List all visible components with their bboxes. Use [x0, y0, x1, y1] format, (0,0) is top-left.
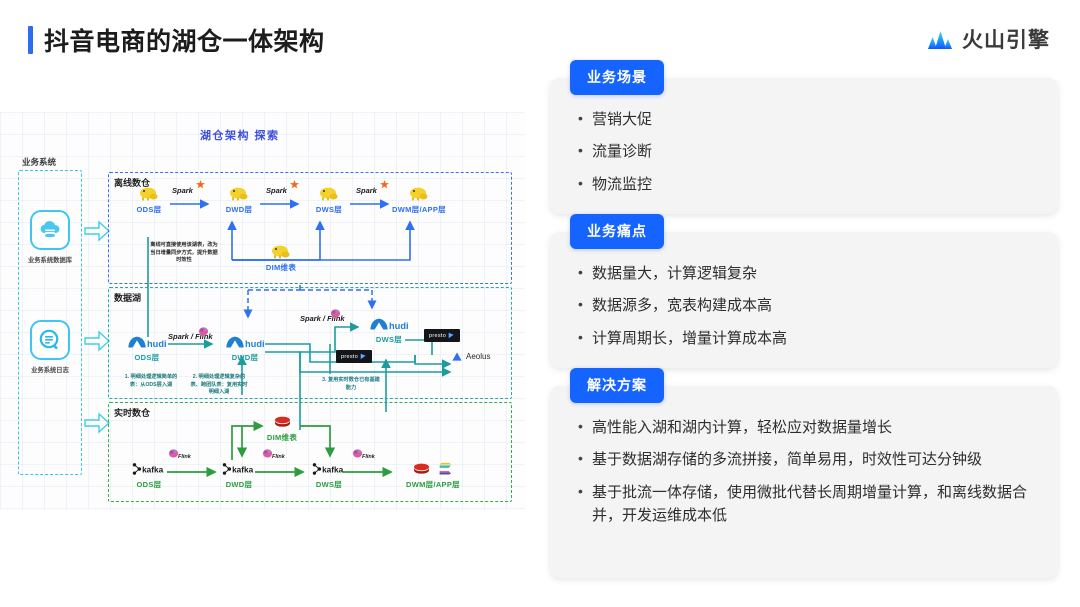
bullet-text: 基于数据湖存储的多流拼接，简单易用，时效性可达分钟级 [592, 448, 982, 471]
brand-logo: 火山引擎 [927, 24, 1050, 54]
elasticsearch-icon [438, 462, 453, 477]
realtime-stage-dwm-app: DWM层/APP层 [388, 457, 478, 490]
engine-label-spark: Spark [356, 186, 377, 195]
list-item: • 基于数据湖存储的多流拼接，简单易用，时效性可达分钟级 [576, 448, 1032, 471]
hudi-icon: hudi [352, 312, 426, 332]
bullet-text: 营销大促 [592, 108, 652, 131]
bullet-text: 物流监控 [592, 173, 652, 196]
realtime-stage-dim: DIM维表 [245, 410, 319, 443]
lake-note-3: 3. 复用实时数仓已有基建能力 [322, 377, 380, 392]
bullet-dot: • [576, 108, 592, 129]
aeolus-node: Aeolus [452, 352, 490, 361]
spark-star-icon [196, 180, 205, 189]
lake-stage-dwd: hudi DWD层 [208, 330, 282, 363]
slide-root: 抖音电商的湖仓一体架构 火山引擎 湖仓架构 探索 业务系统 [0, 0, 1080, 607]
bullet-text: 基于批流一体存储，使用微批代替长周期增量计算，和离线数据合并，开发运维成本低 [592, 481, 1032, 528]
offline-stage-dim: DIM维表 [244, 240, 318, 273]
spark-star-icon [290, 180, 299, 189]
list-item: • 数据源多，宽表构建成本高 [576, 294, 1032, 317]
stage-label: DWD层 [208, 352, 282, 363]
stage-label: DWD层 [202, 204, 276, 215]
stage-label: DIM维表 [244, 262, 318, 273]
info-card-solution: 解决方案 • 高性能入湖和湖内计算，轻松应对数据量增长 • 基于数据湖存储的多流… [550, 386, 1058, 578]
stage-label: DWS层 [352, 334, 426, 345]
svg-text:kafka: kafka [232, 464, 254, 474]
lake-note-1: 1. 明细处理逻辑简单的表：从ODS层入湖 [122, 374, 180, 389]
card-badge: 业务场景 [570, 60, 664, 95]
flow-arrow-icon [84, 220, 110, 242]
flink-squirrel-icon [352, 448, 363, 458]
hadoop-icon [202, 182, 276, 202]
kafka-icon: kafka [202, 457, 276, 477]
offline-note: 离线可直接使用该湖表，改为当日增量同步方式，提升数据时效性 [148, 242, 220, 265]
hadoop-icon [292, 182, 366, 202]
bullet-dot: • [576, 294, 592, 315]
presto-badge: presto [336, 350, 372, 363]
svg-text:hudi: hudi [147, 339, 167, 349]
lake-stage-dws: hudi DWS层 [352, 312, 426, 345]
svg-text:kafka: kafka [142, 464, 164, 474]
bullet-text: 计算周期长，增量计算成本高 [592, 327, 787, 350]
section-label-lake: 数据湖 [114, 291, 141, 304]
stage-label: ODS层 [110, 352, 184, 363]
flink-squirrel-icon [262, 448, 273, 458]
list-item: • 数据量大，计算逻辑复杂 [576, 262, 1032, 285]
card-badge: 业务痛点 [570, 214, 664, 249]
hadoop-icon [244, 240, 318, 260]
list-item: • 物流监控 [576, 173, 1032, 196]
diagram-title: 湖仓架构 探索 [200, 127, 280, 143]
hudi-icon: hudi [208, 330, 282, 350]
redis-icon [413, 462, 430, 477]
volcano-mountain-icon [927, 28, 953, 50]
realtime-stage-ods: kafka ODS层 [112, 457, 186, 490]
realtime-stage-dws: kafka DWS层 [292, 457, 366, 490]
engine-label-flink: Flink [178, 454, 191, 460]
bullet-text: 数据源多，宽表构建成本高 [592, 294, 772, 317]
stage-label: ODS层 [112, 204, 186, 215]
source-node-label: 业务系统数据库 [18, 255, 82, 264]
aeolus-icon [452, 352, 462, 361]
flow-arrow-icon [84, 330, 110, 352]
source-node-log: 业务系统日志 [18, 320, 82, 374]
engine-label-spark: Spark [266, 186, 287, 195]
spark-star-icon [380, 180, 389, 189]
presto-label: presto [429, 333, 446, 339]
title-accent-bar [28, 26, 33, 54]
stage-label: DWS层 [292, 479, 366, 490]
bullet-text: 高性能入湖和湖内计算，轻松应对数据量增长 [592, 416, 892, 439]
source-node-label: 业务系统日志 [18, 365, 82, 374]
brand-name: 火山引擎 [962, 24, 1050, 54]
card-body: • 数据量大，计算逻辑复杂 • 数据源多，宽表构建成本高 • 计算周期长，增量计… [550, 232, 1058, 366]
bullet-dot: • [576, 173, 592, 194]
kafka-icon: kafka [112, 457, 186, 477]
bullet-dot: • [576, 416, 592, 437]
engine-label-flink: Flink [362, 454, 375, 460]
bullet-dot: • [576, 140, 592, 161]
slide-header: 抖音电商的湖仓一体架构 火山引擎 [0, 0, 1080, 72]
stage-label: DWM层/APP层 [382, 204, 456, 215]
bullet-dot: • [576, 262, 592, 283]
presto-badge: presto [424, 329, 460, 342]
presto-glyph-icon [448, 332, 455, 339]
list-item: • 计算周期长，增量计算成本高 [576, 327, 1032, 350]
bullet-text: 数据量大，计算逻辑复杂 [592, 262, 757, 285]
title-text: 抖音电商的湖仓一体架构 [44, 22, 325, 58]
list-item: • 流量诊断 [576, 140, 1032, 163]
info-card-painpoints: 业务痛点 • 数据量大，计算逻辑复杂 • 数据源多，宽表构建成本高 • 计算周期… [550, 232, 1058, 368]
engine-label-flink: Flink [272, 454, 285, 460]
svg-text:hudi: hudi [245, 339, 265, 349]
source-node-database: 业务系统数据库 [18, 210, 82, 264]
bullet-dot: • [576, 481, 592, 502]
list-item: • 高性能入湖和湖内计算，轻松应对数据量增长 [576, 416, 1032, 439]
kafka-icon: kafka [292, 457, 366, 477]
stage-label: DIM维表 [245, 432, 319, 443]
engine-label-spark: Spark [172, 186, 193, 195]
flink-squirrel-icon [330, 308, 341, 318]
flink-squirrel-icon [168, 448, 179, 458]
bullet-dot: • [576, 327, 592, 348]
stage-label: DWM层/APP层 [388, 479, 478, 490]
offline-stage-dwm-app: DWM层/APP层 [382, 182, 456, 215]
log-search-icon [30, 320, 70, 360]
offline-stage-dwd: DWD层 [202, 182, 276, 215]
card-body: • 高性能入湖和湖内计算，轻松应对数据量增长 • 基于数据湖存储的多流拼接，简单… [550, 386, 1058, 543]
svg-text:kafka: kafka [322, 464, 344, 474]
realtime-stage-dwd: kafka DWD层 [202, 457, 276, 490]
card-badge: 解决方案 [570, 368, 664, 403]
flow-arrow-icon [84, 412, 110, 434]
source-group-label: 业务系统 [22, 156, 56, 168]
architecture-diagram: 湖仓架构 探索 业务系统 业务系统数据库 [0, 112, 525, 510]
presto-label: presto [341, 354, 358, 360]
flink-squirrel-icon [198, 326, 209, 336]
bullet-dot: • [576, 448, 592, 469]
bullet-text: 流量诊断 [592, 140, 652, 163]
lake-note-2: 2. 明细处理逻辑复杂的表、跨团队表：复用实时明细入湖 [190, 374, 248, 397]
cloud-database-icon [30, 210, 70, 250]
redis-elasticsearch-icon [388, 457, 478, 477]
stage-label: DWS层 [292, 204, 366, 215]
offline-stage-dws: DWS层 [292, 182, 366, 215]
redis-icon [245, 410, 319, 430]
stage-label: ODS层 [112, 479, 186, 490]
card-body: • 营销大促 • 流量诊断 • 物流监控 [550, 78, 1058, 212]
stage-label: DWD层 [202, 479, 276, 490]
svg-text:hudi: hudi [389, 321, 409, 331]
section-label-realtime: 实时数仓 [114, 406, 150, 419]
info-card-scenarios: 业务场景 • 营销大促 • 流量诊断 • 物流监控 [550, 78, 1058, 214]
presto-glyph-icon [360, 353, 367, 360]
list-item: • 基于批流一体存储，使用微批代替长周期增量计算，和离线数据合并，开发运维成本低 [576, 481, 1032, 528]
page-title: 抖音电商的湖仓一体架构 [28, 22, 325, 58]
hadoop-icon [382, 182, 456, 202]
list-item: • 营销大促 [576, 108, 1032, 131]
aeolus-label: Aeolus [466, 352, 490, 361]
